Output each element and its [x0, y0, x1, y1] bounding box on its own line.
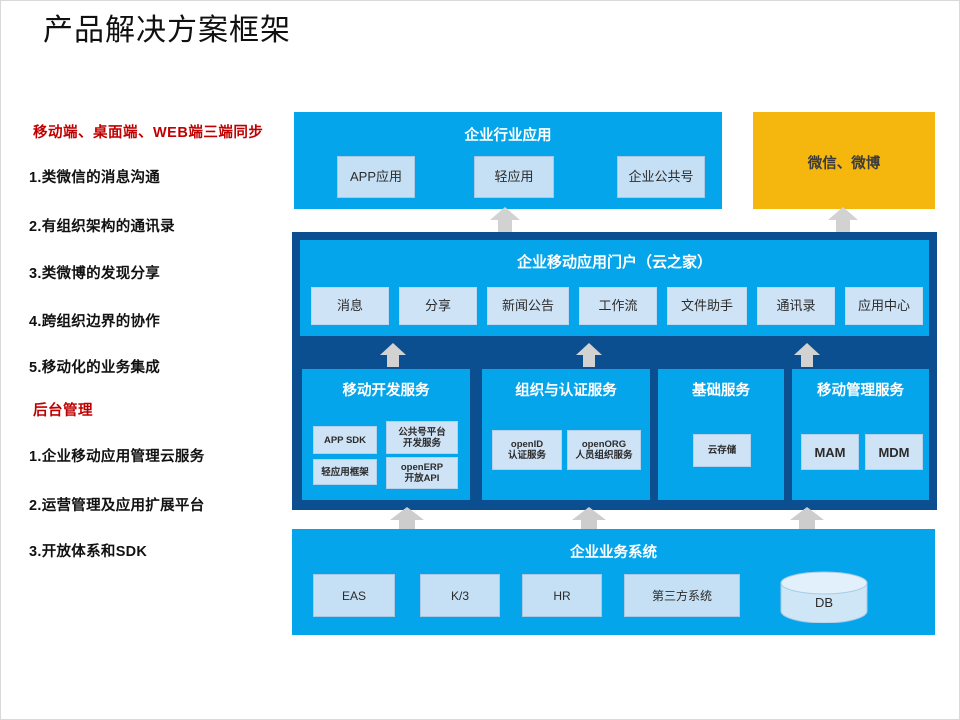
service-title-org-auth: 组织与认证服务 — [482, 379, 650, 400]
business-item-hr[interactable]: HR — [522, 574, 602, 617]
business-systems-title: 企业业务系统 — [292, 541, 935, 562]
portal-item-workflow[interactable]: 工作流 — [579, 287, 657, 325]
portal-item-news[interactable]: 新闻公告 — [487, 287, 569, 325]
social-panel: 微信、微博 — [753, 112, 935, 209]
service-item-mam[interactable]: MAM — [801, 434, 859, 470]
sidebar-item-admin-3: 3.开放体系和SDK — [29, 540, 147, 561]
sidebar-item-sync-1: 1.类微信的消息沟通 — [29, 166, 160, 187]
service-title-mobile-mgmt: 移动管理服务 — [792, 379, 929, 400]
slide-canvas: 产品解决方案框架 移动端、桌面端、WEB端三端同步 1.类微信的消息沟通 2.有… — [0, 0, 960, 720]
social-title: 微信、微博 — [753, 152, 935, 173]
sidebar-item-sync-4: 4.跨组织边界的协作 — [29, 310, 160, 331]
service-item-openorg[interactable]: openORG 人员组织服务 — [567, 430, 641, 470]
portal-item-contacts[interactable]: 通讯录 — [757, 287, 835, 325]
service-item-app-sdk[interactable]: APP SDK — [313, 426, 377, 454]
sidebar-item-sync-3: 3.类微博的发现分享 — [29, 262, 160, 283]
business-item-k3[interactable]: K/3 — [420, 574, 500, 617]
service-item-public-platform[interactable]: 公共号平台 开发服务 — [386, 421, 458, 454]
sidebar-item-sync-2: 2.有组织架构的通讯录 — [29, 215, 175, 236]
service-item-cloud-storage[interactable]: 云存储 — [693, 434, 751, 467]
portal-item-files[interactable]: 文件助手 — [667, 287, 747, 325]
sidebar-item-admin-2: 2.运营管理及应用扩展平台 — [29, 494, 205, 515]
service-item-openerp-api[interactable]: openERP 开放API — [386, 457, 458, 489]
industry-app-item-app[interactable]: APP应用 — [337, 156, 415, 198]
database-cylinder[interactable]: DB — [779, 571, 869, 628]
sidebar-heading-admin: 后台管理 — [33, 399, 93, 420]
sidebar-item-sync-5: 5.移动化的业务集成 — [29, 356, 160, 377]
sidebar-heading-sync: 移动端、桌面端、WEB端三端同步 — [33, 121, 263, 142]
page-title: 产品解决方案框架 — [43, 13, 291, 49]
business-item-eas[interactable]: EAS — [313, 574, 395, 617]
portal-item-messages[interactable]: 消息 — [311, 287, 389, 325]
industry-app-item-public[interactable]: 企业公共号 — [617, 156, 705, 198]
service-title-mobile-dev: 移动开发服务 — [302, 379, 470, 400]
business-item-third-party[interactable]: 第三方系统 — [624, 574, 740, 617]
service-title-basic: 基础服务 — [658, 379, 784, 400]
industry-apps-title: 企业行业应用 — [294, 124, 722, 145]
service-item-light-framework[interactable]: 轻应用框架 — [313, 459, 377, 485]
portal-item-appcenter[interactable]: 应用中心 — [845, 287, 923, 325]
industry-app-item-light[interactable]: 轻应用 — [474, 156, 554, 198]
service-item-openid[interactable]: openID 认证服务 — [492, 430, 562, 470]
portal-item-share[interactable]: 分享 — [399, 287, 477, 325]
portal-title: 企业移动应用门户（云之家） — [300, 251, 929, 272]
sidebar-item-admin-1: 1.企业移动应用管理云服务 — [29, 445, 205, 466]
database-label: DB — [815, 595, 833, 610]
service-item-mdm[interactable]: MDM — [865, 434, 923, 470]
